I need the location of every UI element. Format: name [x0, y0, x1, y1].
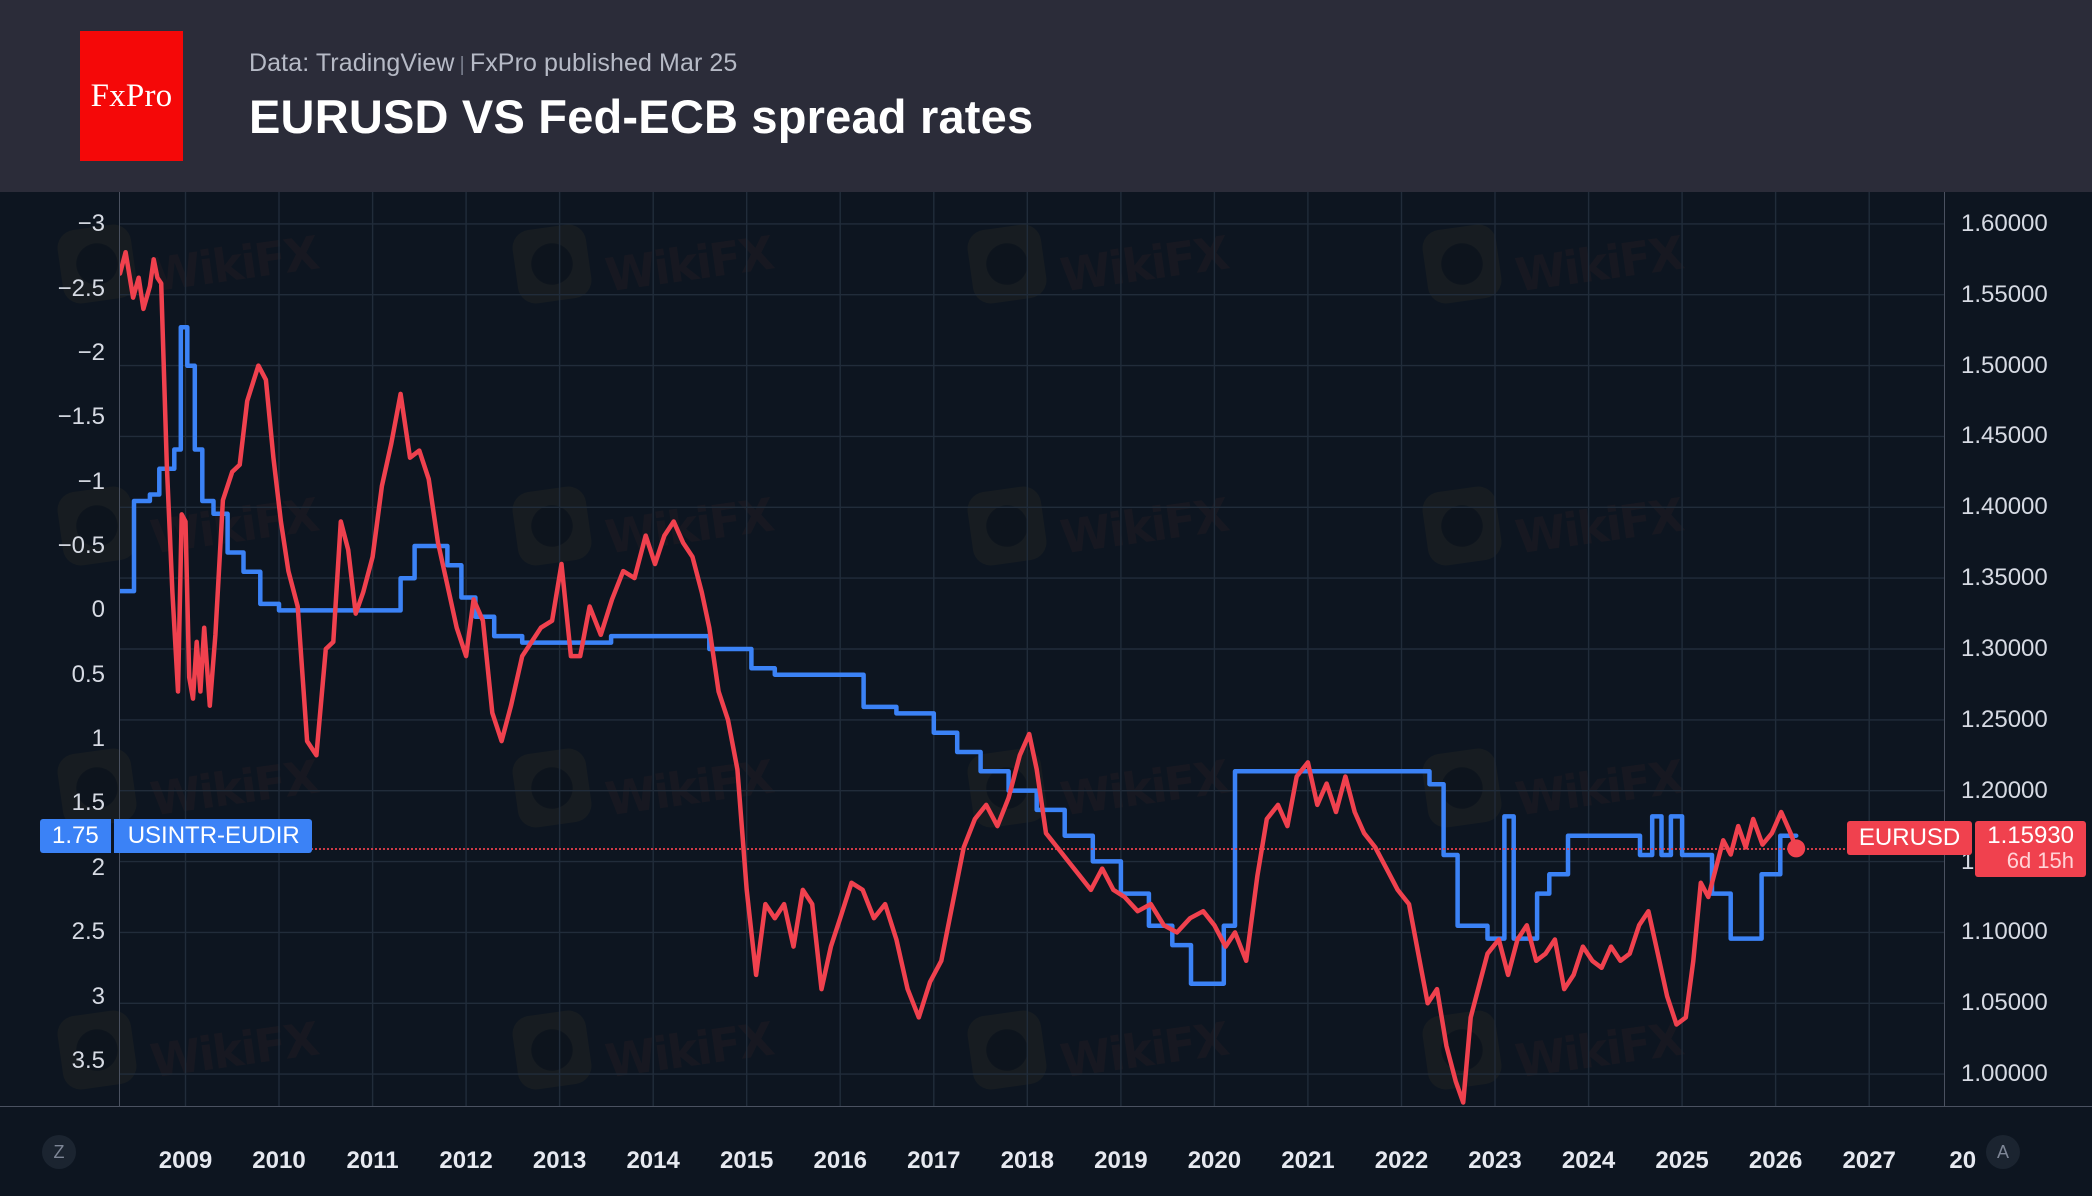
time-axis-tick: 2027 [1842, 1147, 1895, 1175]
logo-label: FxPro [91, 78, 173, 115]
left-axis-tick: −1.5 [58, 403, 105, 431]
time-axis-tick: 2022 [1375, 1147, 1428, 1175]
time-axis-tick: 2021 [1281, 1147, 1334, 1175]
left-axis-tick: 1 [92, 725, 105, 753]
current-price-line [120, 848, 1944, 850]
red-series-name: EURUSD [1847, 821, 1972, 855]
red-countdown: 6d 15h [1987, 849, 2074, 873]
chart-container: WikiFX WikiFX WikiFX WikiFX WikiFX WikiF… [0, 192, 2092, 1196]
left-axis-tick: −2 [78, 339, 105, 367]
left-axis-tick: −0.5 [58, 532, 105, 560]
time-axis-tick: 2024 [1562, 1147, 1615, 1175]
time-axis-tick: 2015 [720, 1147, 773, 1175]
time-axis-tick: 2017 [907, 1147, 960, 1175]
time-axis[interactable]: Z A 200920102011201220132014201520162017… [0, 1106, 2092, 1196]
left-axis-tick: 2 [92, 854, 105, 882]
red-series-price-tag[interactable]: EURUSD 1.15930 6d 15h [1847, 821, 2086, 855]
blue-series-price-tag[interactable]: 1.75 USINTR-EUDIR [40, 819, 312, 853]
right-price-axis[interactable]: 1.600001.550001.500001.450001.400001.350… [1944, 192, 2092, 1106]
left-axis-tick: −2.5 [58, 275, 105, 303]
right-axis-tick: 1.05000 [1961, 989, 2048, 1017]
time-axis-tick: 20 [1949, 1147, 1976, 1175]
time-axis-tick: 2013 [533, 1147, 586, 1175]
right-axis-tick: 1.45000 [1961, 422, 2048, 450]
source-prefix: Data: TradingView [249, 49, 455, 77]
red-price-value: 1.15930 [1987, 823, 2074, 849]
fxpro-logo: FxPro [80, 31, 183, 161]
source-separator: | [455, 54, 470, 76]
series-layer [120, 192, 1944, 1106]
header-text-block: Data: TradingView|FxPro published Mar 25… [249, 49, 1033, 144]
time-axis-tick: 2011 [347, 1147, 399, 1175]
right-axis-tick: 1.55000 [1961, 281, 2048, 309]
right-axis-tick: 1.10000 [1961, 918, 2048, 946]
right-axis-tick: 1.30000 [1961, 635, 2048, 663]
time-axis-tick: 2016 [814, 1147, 867, 1175]
source-line: Data: TradingView|FxPro published Mar 25 [249, 49, 1033, 78]
time-axis-tick: 2012 [439, 1147, 492, 1175]
time-axis-tick: 2023 [1468, 1147, 1521, 1175]
right-axis-tick: 1.40000 [1961, 493, 2048, 521]
left-axis-tick: 0.5 [72, 661, 105, 689]
time-axis-tick: 2009 [159, 1147, 212, 1175]
page-header: FxPro Data: TradingView|FxPro published … [0, 0, 2092, 192]
time-axis-tick: 2026 [1749, 1147, 1802, 1175]
right-axis-tick: 1.35000 [1961, 564, 2048, 592]
left-axis-tick: 0 [92, 596, 105, 624]
left-axis-tick: −1 [78, 468, 105, 496]
left-axis-tick: 2.5 [72, 918, 105, 946]
left-axis-tick: −3 [78, 210, 105, 238]
auto-scale-badge[interactable]: A [1986, 1135, 2020, 1169]
time-axis-tick: 2014 [626, 1147, 679, 1175]
timezone-badge[interactable]: Z [42, 1135, 76, 1169]
right-axis-tick: 1.60000 [1961, 210, 2048, 238]
source-suffix: FxPro published Mar 25 [470, 49, 738, 77]
left-price-axis[interactable]: −3−2.5−2−1.5−1−0.500.511.522.533.5 [0, 192, 120, 1106]
left-axis-tick: 3.5 [72, 1047, 105, 1075]
right-axis-tick: 1.25000 [1961, 706, 2048, 734]
blue-series-name: USINTR-EUDIR [114, 819, 312, 853]
left-axis-tick: 3 [92, 983, 105, 1011]
left-axis-tick: 1.5 [72, 789, 105, 817]
time-axis-tick: 2025 [1655, 1147, 1708, 1175]
red-price-box: 1.15930 6d 15h [1975, 821, 2086, 877]
time-axis-tick: 2010 [252, 1147, 305, 1175]
right-axis-tick: 1.20000 [1961, 777, 2048, 805]
right-axis-tick: 1.00000 [1961, 1060, 2048, 1088]
plot-area[interactable] [120, 192, 1944, 1106]
right-axis-tick: 1.50000 [1961, 352, 2048, 380]
blue-price-value: 1.75 [40, 819, 111, 853]
time-axis-tick: 2020 [1188, 1147, 1241, 1175]
page-title: EURUSD VS Fed-ECB spread rates [249, 89, 1033, 144]
time-axis-tick: 2019 [1094, 1147, 1147, 1175]
time-axis-tick: 2018 [1001, 1147, 1054, 1175]
